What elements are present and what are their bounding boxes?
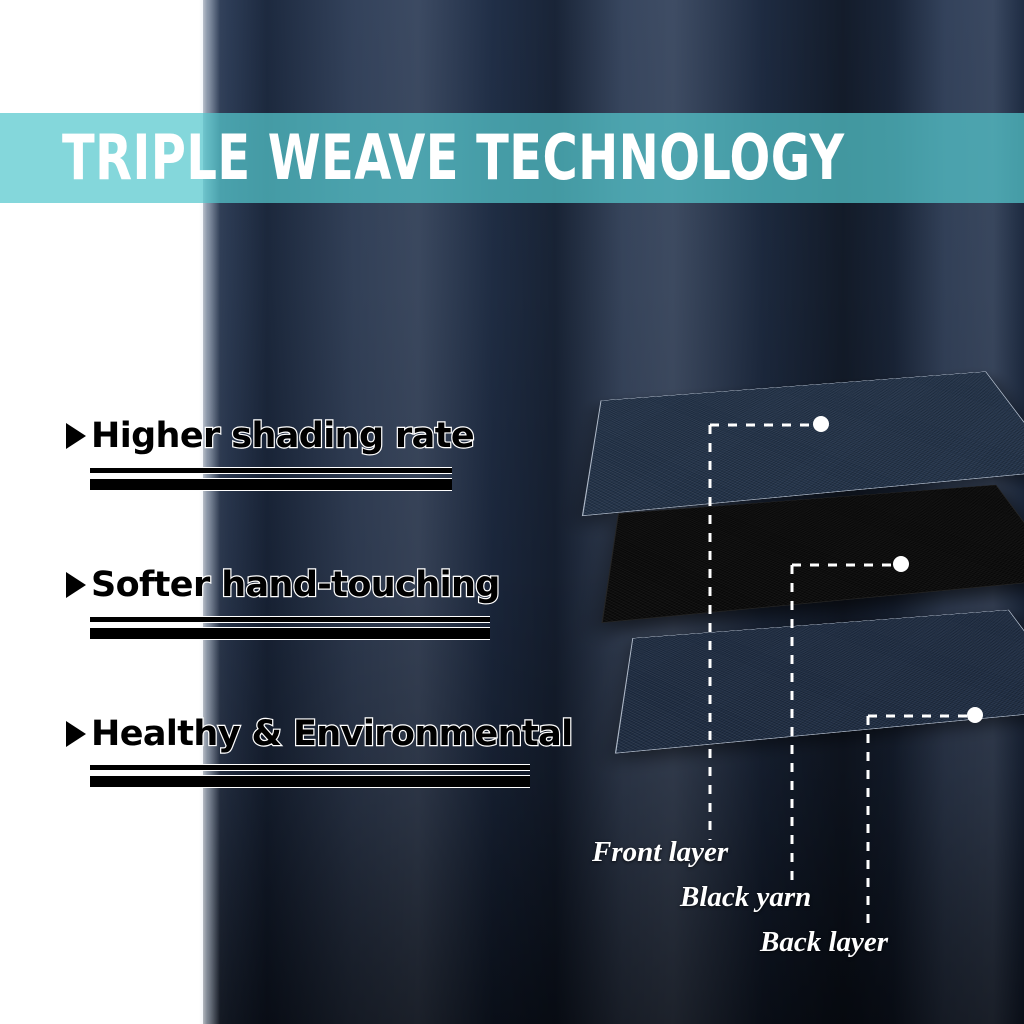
divider-thin-rule <box>90 467 452 474</box>
feature-divider <box>66 467 452 491</box>
triangle-right-icon <box>66 721 86 747</box>
fabric-sheet-back-layer <box>615 610 1024 754</box>
divider-thin-rule <box>90 616 490 623</box>
feature-item-healthy-environmental: Healthy & Environmental <box>66 716 586 789</box>
headline-banner: TRIPLE WEAVE TECHNOLOGY <box>0 113 1024 203</box>
divider-thick-rule <box>90 775 530 788</box>
feature-item-softer-hand-touching: Softer hand-touching <box>66 567 586 640</box>
feature-item-higher-shading-rate: Higher shading rate <box>66 418 586 491</box>
triangle-right-icon <box>66 572 86 598</box>
feature-label: Higher shading rate <box>91 418 474 455</box>
feature-heading: Healthy & Environmental <box>66 716 586 753</box>
feature-divider <box>66 764 530 788</box>
feature-heading: Softer hand-touching <box>66 567 586 604</box>
feature-divider <box>66 616 490 640</box>
banner-title: TRIPLE WEAVE TECHNOLOGY <box>62 127 845 189</box>
feature-label: Healthy & Environmental <box>91 716 573 753</box>
layer-label-front-layer: Front layer <box>592 836 728 869</box>
triangle-right-icon <box>66 423 86 449</box>
divider-thick-rule <box>90 627 490 640</box>
feature-heading: Higher shading rate <box>66 418 586 455</box>
product-feature-image: Front layer Black yarn Back layer TRIPLE… <box>0 0 1024 1024</box>
feature-label: Softer hand-touching <box>91 567 500 604</box>
divider-thick-rule <box>90 478 452 491</box>
layer-label-back-layer: Back layer <box>760 926 888 959</box>
layer-label-black-yarn: Black yarn <box>680 881 811 914</box>
fabric-layer-diagram <box>560 300 1024 860</box>
feature-list: Higher shading rate Softer hand-touching… <box>66 418 586 864</box>
divider-thin-rule <box>90 764 530 771</box>
